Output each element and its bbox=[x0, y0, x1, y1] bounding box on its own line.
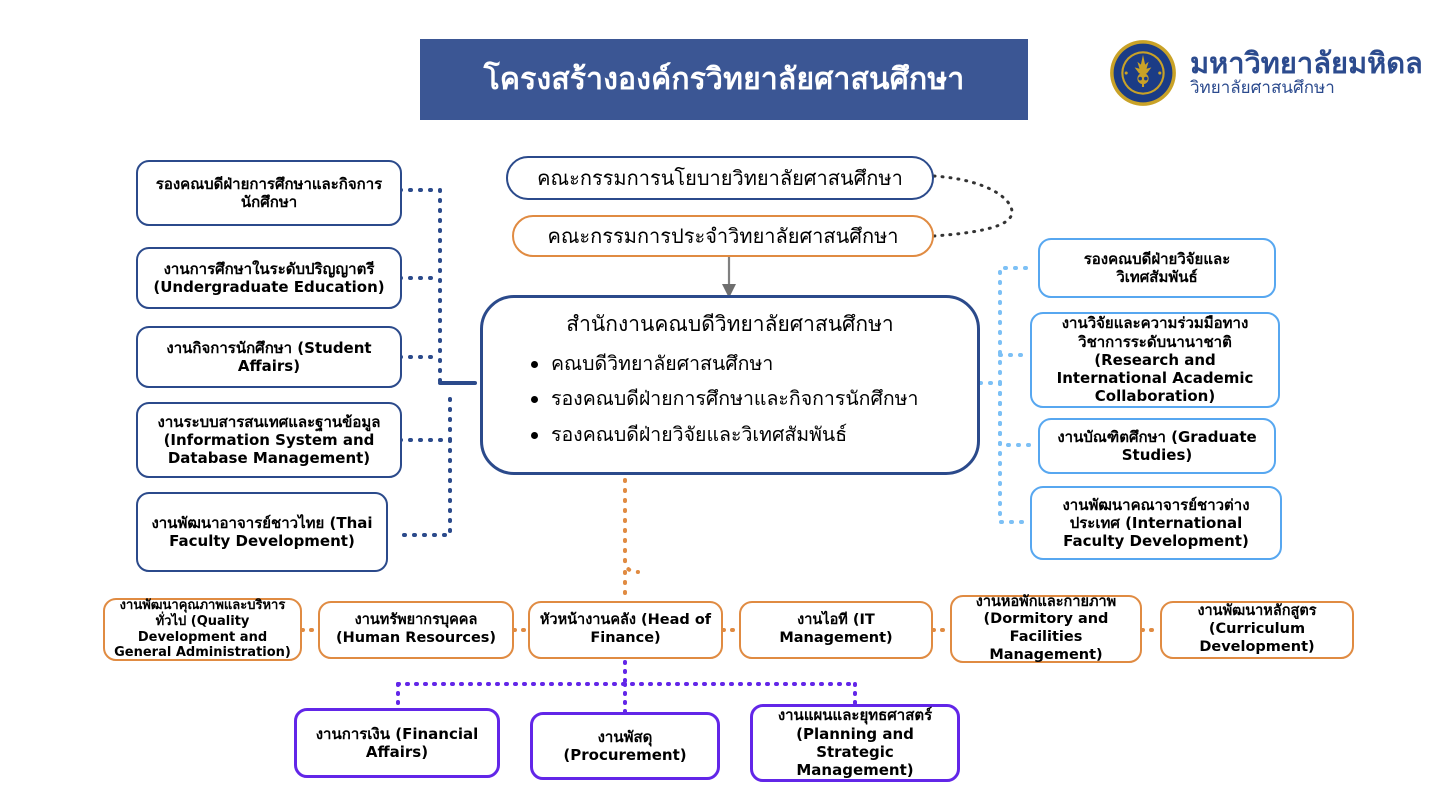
node-thai-faculty-development[interactable]: งานพัฒนาอาจารย์ชาวไทย (Thai Faculty Deve… bbox=[136, 492, 388, 572]
wire-right-4 bbox=[1000, 383, 1030, 522]
wire-committee-link bbox=[934, 176, 1012, 236]
wire-left-4 bbox=[400, 440, 450, 535]
node-label: งานพัฒนาคุณภาพและบริหารทั่วไป (Quality D… bbox=[105, 598, 300, 661]
node-label: งานกิจการนักศึกษา (Student Affairs) bbox=[138, 339, 400, 376]
node-vice-dean-research[interactable]: รองคณบดีฝ่ายวิจัยและวิเทศสัมพันธ์ bbox=[1038, 238, 1276, 298]
node-label: หัวหน้างานคลัง (Head of Finance) bbox=[530, 612, 721, 647]
node-label: คณะกรรมการนโยบายวิทยาลัยศาสนศึกษา bbox=[531, 166, 909, 190]
logo-organization: มหาวิทยาลัยมหิดล bbox=[1190, 48, 1423, 78]
node-quality-development[interactable]: งานพัฒนาคุณภาพและบริหารทั่วไป (Quality D… bbox=[103, 598, 302, 661]
dean-office-item: คณบดีวิทยาลัยศาสนศึกษา bbox=[531, 352, 955, 376]
page-title-banner: โครงสร้างองค์กรวิทยาลัยศาสนศึกษา bbox=[420, 39, 1028, 120]
node-label: งานทรัพยากรบุคคล (Human Resources) bbox=[320, 612, 512, 647]
node-procurement[interactable]: งานพัสดุ (Procurement) bbox=[530, 712, 720, 780]
node-it-management[interactable]: งานไอที (IT Management) bbox=[739, 601, 933, 659]
node-label: รองคณบดีฝ่ายวิจัยและวิเทศสัมพันธ์ bbox=[1040, 250, 1274, 287]
wire-center-to-support bbox=[625, 470, 638, 572]
node-undergraduate-education[interactable]: งานการศึกษาในระดับปริญญาตรี (Undergradua… bbox=[136, 247, 402, 309]
logo-unit: วิทยาลัยศาสนศึกษา bbox=[1190, 80, 1423, 98]
page-title: โครงสร้างองค์กรวิทยาลัยศาสนศึกษา bbox=[484, 62, 965, 98]
node-label: งานหอพักและกายภาพ (Dormitory and Facilit… bbox=[952, 594, 1140, 665]
mahidol-seal-icon bbox=[1108, 38, 1178, 108]
node-label: งานพัฒนาหลักสูตร (Curriculum Development… bbox=[1162, 603, 1352, 656]
node-label: งานระบบสารสนเทศและฐานข้อมูล (Information… bbox=[138, 413, 400, 468]
node-label: รองคณบดีฝ่ายการศึกษาและกิจการนักศึกษา bbox=[138, 175, 400, 212]
node-label: งานพัฒนาอาจารย์ชาวไทย (Thai Faculty Deve… bbox=[138, 514, 386, 551]
node-dean-office[interactable]: สำนักงานคณบดีวิทยาลัยศาสนศึกษา คณบดีวิทย… bbox=[480, 295, 980, 475]
node-label: งานวิจัยและความร่วมมือทางวิชาการระดับนาน… bbox=[1032, 314, 1278, 405]
node-label: งานการเงิน (Financial Affairs) bbox=[297, 725, 497, 762]
node-research-collaboration[interactable]: งานวิจัยและความร่วมมือทางวิชาการระดับนาน… bbox=[1030, 312, 1280, 408]
node-label: งานพัฒนาคณาจารย์ชาวต่างประเทศ (Internati… bbox=[1032, 496, 1280, 551]
dean-office-item: รองคณบดีฝ่ายวิจัยและวิเทศสัมพันธ์ bbox=[531, 423, 955, 447]
node-policy-committee[interactable]: คณะกรรมการนโยบายวิทยาลัยศาสนศึกษา bbox=[506, 156, 934, 200]
brand-logo: มหาวิทยาลัยมหิดล วิทยาลัยศาสนศึกษา bbox=[1108, 34, 1428, 112]
node-label: งานการศึกษาในระดับปริญญาตรี (Undergradua… bbox=[138, 260, 400, 297]
node-label: งานไอที (IT Management) bbox=[741, 612, 931, 647]
node-label: งานบัณฑิตศึกษา (Graduate Studies) bbox=[1040, 428, 1274, 465]
node-planning-strategic[interactable]: งานแผนและยุทธศาสตร์ (Planning and Strate… bbox=[750, 704, 960, 782]
node-label: คณะกรรมการประจำวิทยาลัยศาสนศึกษา bbox=[541, 224, 904, 248]
node-head-of-finance[interactable]: หัวหน้างานคลัง (Head of Finance) bbox=[528, 601, 723, 659]
wire-left-1 bbox=[400, 190, 440, 383]
node-label: งานพัสดุ (Procurement) bbox=[533, 728, 717, 765]
node-dormitory-facilities[interactable]: งานหอพักและกายภาพ (Dormitory and Facilit… bbox=[950, 595, 1142, 663]
node-graduate-studies[interactable]: งานบัณฑิตศึกษา (Graduate Studies) bbox=[1038, 418, 1276, 474]
node-vice-dean-education[interactable]: รองคณบดีฝ่ายการศึกษาและกิจการนักศึกษา bbox=[136, 160, 402, 226]
node-information-system[interactable]: งานระบบสารสนเทศและฐานข้อมูล (Information… bbox=[136, 402, 402, 478]
node-financial-affairs[interactable]: งานการเงิน (Financial Affairs) bbox=[294, 708, 500, 778]
node-college-committee[interactable]: คณะกรรมการประจำวิทยาลัยศาสนศึกษา bbox=[512, 215, 934, 257]
node-international-faculty-development[interactable]: งานพัฒนาคณาจารย์ชาวต่างประเทศ (Internati… bbox=[1030, 486, 1282, 560]
dean-office-list: คณบดีวิทยาลัยศาสนศึกษา รองคณบดีฝ่ายการศึ… bbox=[505, 342, 955, 459]
wire-right-3 bbox=[1000, 383, 1030, 445]
node-label: งานแผนและยุทธศาสตร์ (Planning and Strate… bbox=[753, 706, 957, 779]
wire-right-1 bbox=[980, 268, 1030, 383]
dean-office-title: สำนักงานคณบดีวิทยาลัยศาสนศึกษา bbox=[505, 312, 955, 338]
node-curriculum-development[interactable]: งานพัฒนาหลักสูตร (Curriculum Development… bbox=[1160, 601, 1354, 659]
dean-office-item: รองคณบดีฝ่ายการศึกษาและกิจการนักศึกษา bbox=[531, 387, 955, 411]
node-student-affairs[interactable]: งานกิจการนักศึกษา (Student Affairs) bbox=[136, 326, 402, 388]
org-chart-canvas: โครงสร้างองค์กรวิทยาลัยศาสนศึกษา มหาวิทย… bbox=[0, 0, 1440, 809]
node-human-resources[interactable]: งานทรัพยากรบุคคล (Human Resources) bbox=[318, 601, 514, 659]
